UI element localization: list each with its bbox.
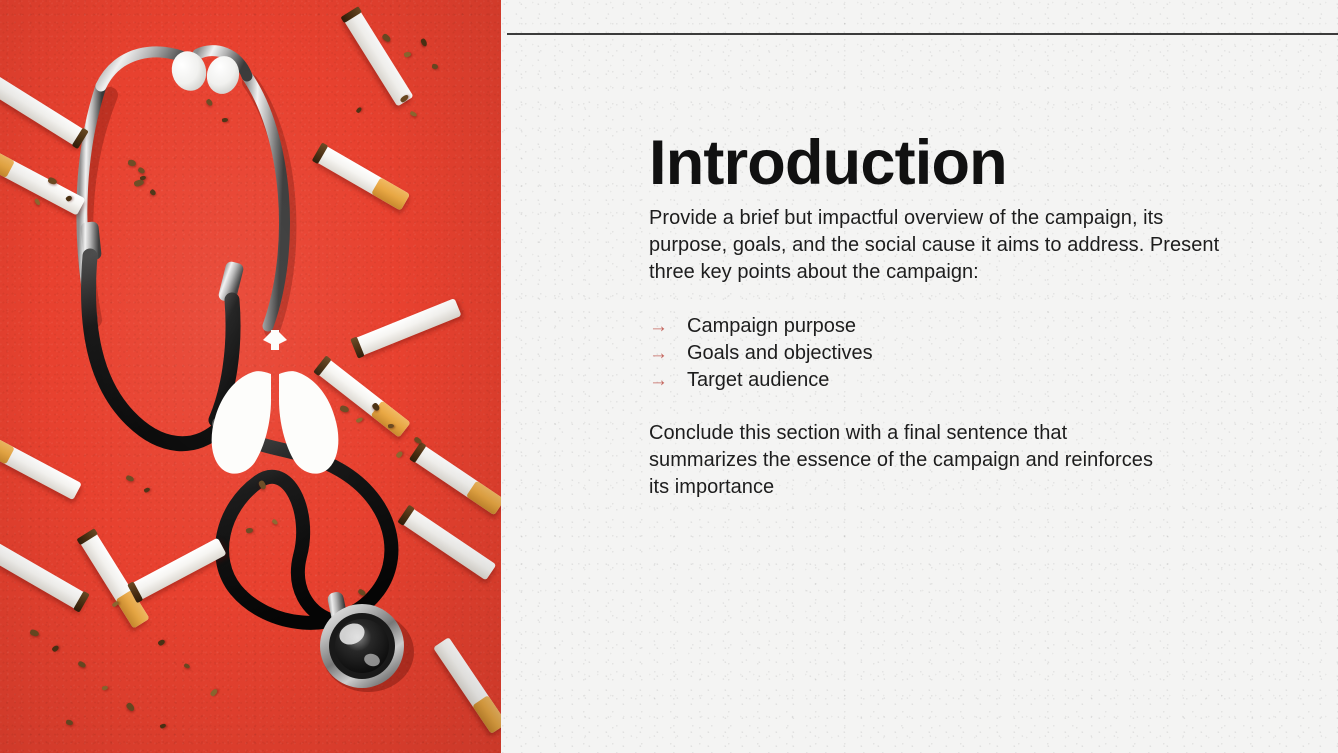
arrow-right-icon: → — [649, 367, 687, 394]
paper-lungs-icon — [185, 330, 365, 480]
photo-panel — [0, 0, 501, 753]
header-divider — [507, 33, 1338, 35]
arrow-right-icon: → — [649, 313, 687, 340]
list-item: → Campaign purpose — [649, 313, 1249, 340]
list-item: → Target audience — [649, 367, 1249, 394]
arrow-right-icon: → — [649, 340, 687, 367]
closing-paragraph: Conclude this section with a final sente… — [649, 420, 1159, 501]
body-content: Provide a brief but impactful overview o… — [649, 205, 1249, 501]
list-item-label: Goals and objectives — [687, 340, 1249, 367]
key-points-list: → Campaign purpose → Goals and objective… — [649, 313, 1249, 394]
lead-paragraph: Provide a brief but impactful overview o… — [649, 205, 1234, 286]
list-item-label: Campaign purpose — [687, 313, 1249, 340]
slide: Introduction Provide a brief but impactf… — [0, 0, 1338, 753]
page-title: Introduction — [649, 132, 1007, 195]
list-item: → Goals and objectives — [649, 340, 1249, 367]
list-item-label: Target audience — [687, 367, 1249, 394]
content-panel: Introduction Provide a brief but impactf… — [501, 0, 1338, 753]
